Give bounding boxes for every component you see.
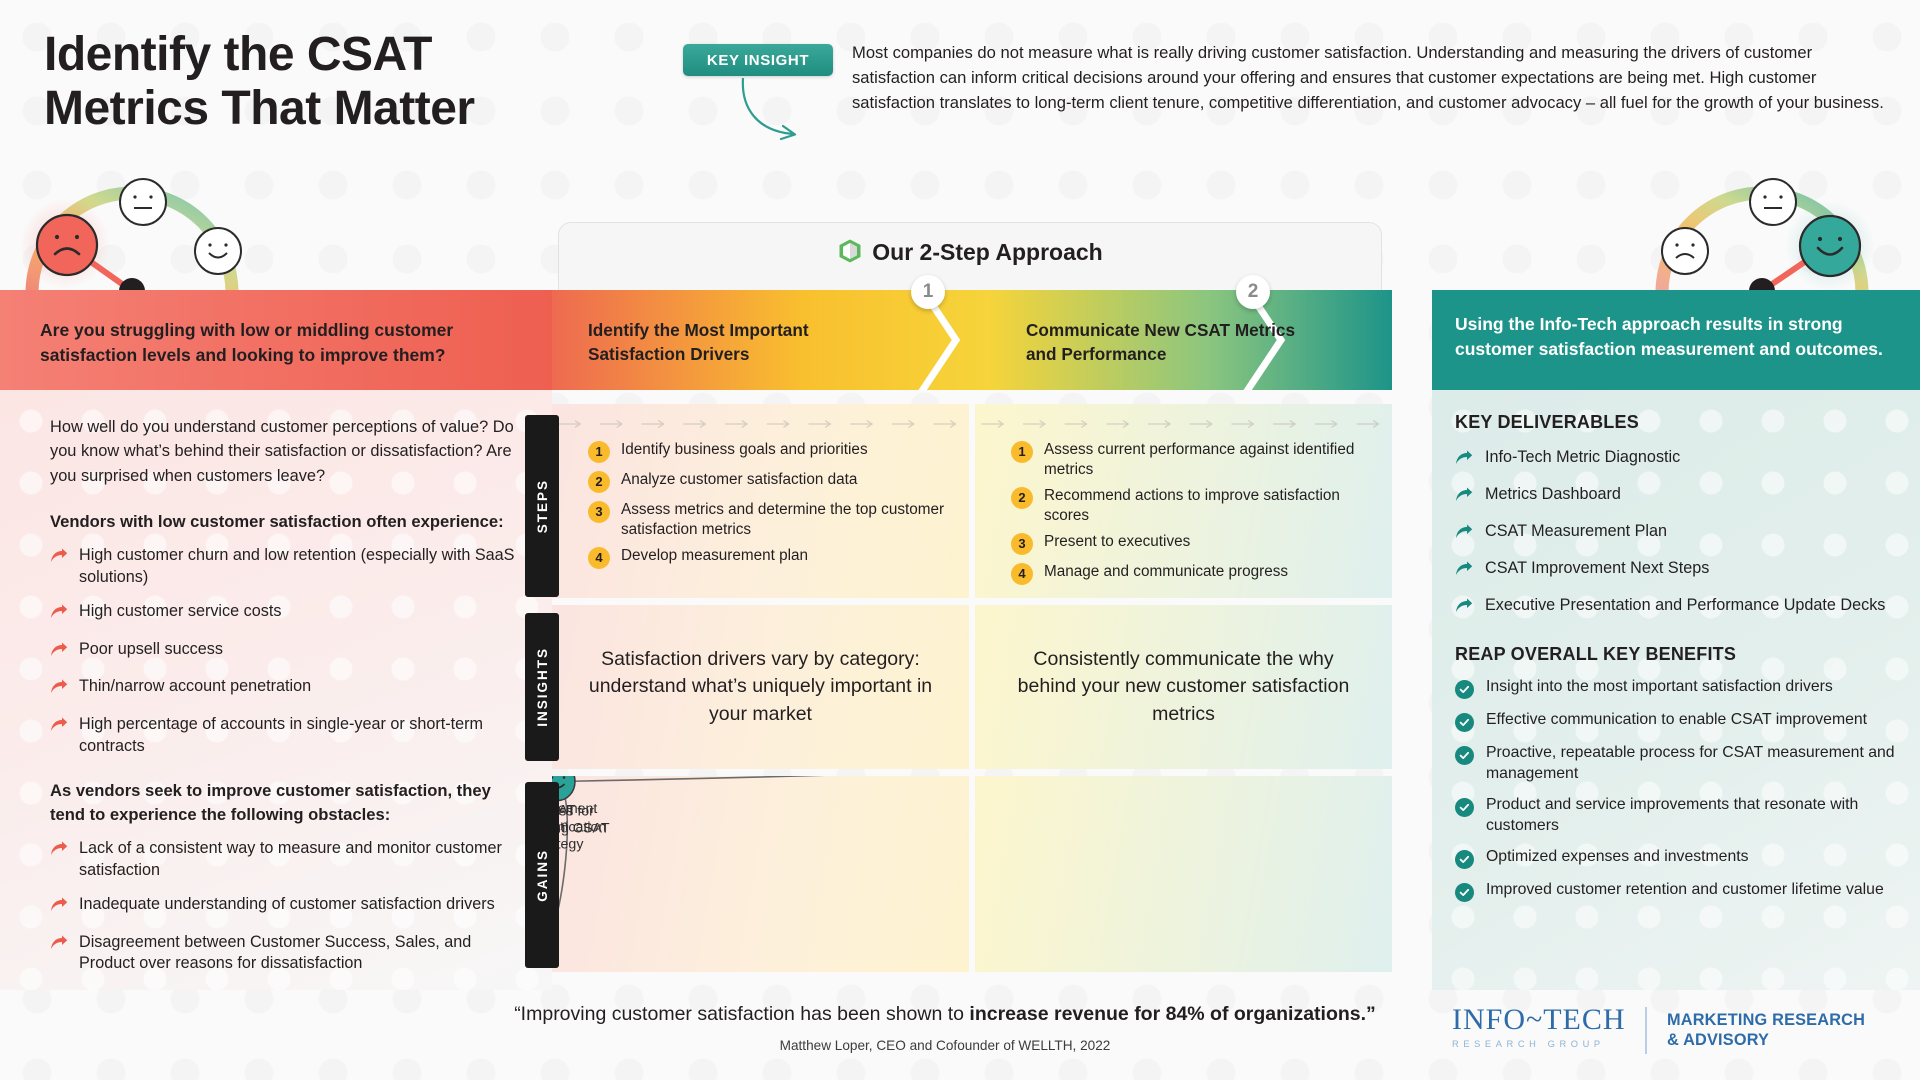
row-label-gains: GAINS [525,782,559,968]
list-item: Insight into the most important satisfac… [1455,677,1905,699]
list-item-label: CSAT Measurement Plan [1485,521,1667,542]
list-item: Disagreement between Customer Success, S… [50,932,520,975]
steps-list-b: 1Assess current performance against iden… [1011,440,1374,585]
list-item-label: Thin/narrow account penetration [79,676,311,698]
step-item: 2Analyze customer satisfaction data [588,470,951,493]
list-item: Proactive, repeatable process for CSAT m… [1455,743,1905,784]
curved-arrow-icon [735,76,855,146]
left-intro-text: How well do you understand customer perc… [50,415,520,488]
arrow-icon [50,679,68,702]
logo-divider [1645,1007,1647,1054]
steps-cell-a: 1Identify business goals and priorities2… [552,404,969,598]
list-item: Thin/narrow account penetration [50,676,520,702]
step-item-label: Present to executives [1044,532,1190,552]
list-item-label: Poor upsell success [79,639,223,661]
info-tech-logo: INFO~TECH RESEARCH GROUP [1452,1005,1626,1049]
step-number-badge: 2 [588,471,610,493]
step-item: 3Assess metrics and determine the top cu… [588,500,951,539]
row-label-gains-text: GAINS [535,849,550,902]
step-item: 1Identify business goals and priorities [588,440,951,463]
header: Identify the CSAT Metrics That Matter KE… [0,0,1920,180]
list-item-label: Lack of a consistent way to measure and … [79,838,520,881]
insights-cell-b: Consistently communicate the why behind … [975,605,1392,769]
list-item-label: Insight into the most important satisfac… [1486,677,1833,698]
list-item: Executive Presentation and Performance U… [1455,595,1905,620]
logo-tagline: MARKETING RESEARCH & ADVISORY [1667,1010,1865,1051]
list-item: Product and service improvements that re… [1455,795,1905,836]
list-item: Poor upsell success [50,639,520,665]
left-list-experiences: High customer churn and low retention (e… [50,545,520,757]
satisfaction-gauge-high [1640,158,1885,293]
list-item: Effective communication to enable CSAT i… [1455,710,1905,732]
footer-attribution: Matthew Loper, CEO and Cofounder of WELL… [440,1038,1450,1053]
step-item: 1Assess current performance against iden… [1011,440,1374,479]
steps-cell-b: 1Assess current performance against iden… [975,404,1392,598]
step-item-label: Identify business goals and priorities [621,440,868,460]
list-item-label: High percentage of accounts in single-ye… [79,714,520,757]
list-item-label: High customer service costs [79,601,281,623]
arrow-icon [1455,450,1473,472]
list-item-label: Effective communication to enable CSAT i… [1486,710,1867,731]
arrow-icon [1455,487,1473,509]
row-label-steps: STEPS [525,415,559,597]
step-item-label: Assess metrics and determine the top cus… [621,500,951,539]
progress-arrows-icon [975,418,1392,430]
cube-logo-icon [837,238,863,264]
list-item: Improved customer retention and customer… [1455,880,1905,902]
left-panel-content: How well do you understand customer perc… [50,415,520,987]
check-icon [1455,746,1474,765]
list-item: CSAT Improvement Next Steps [1455,558,1905,583]
step-number-badge: 2 [1011,487,1033,509]
step-item: 3Present to executives [1011,532,1374,555]
step-label-2: Communicate New CSAT Metrics and Perform… [1026,318,1316,367]
step-number-badge: 3 [588,501,610,523]
row-label-steps-text: STEPS [535,479,550,533]
left-heading-1: Vendors with low customer satisfaction o… [50,510,520,534]
list-item: Lack of a consistent way to measure and … [50,838,520,881]
benefits-list: Insight into the most important satisfac… [1455,677,1905,902]
check-icon [1455,883,1474,902]
list-item-label: Improved customer retention and customer… [1486,880,1884,901]
left-band-text: Are you struggling with low or middling … [40,318,530,369]
arrow-icon [50,841,68,864]
list-item: Inadequate understanding of customer sat… [50,894,520,920]
list-item-label: CSAT Improvement Next Steps [1485,558,1709,579]
check-icon [1455,713,1474,732]
list-item: CSAT Measurement Plan [1455,521,1905,546]
step-item: 4Develop measurement plan [588,546,951,569]
right-band-text: Using the Info-Tech approach results in … [1455,312,1905,362]
step-number-badge: 3 [1011,533,1033,555]
arrow-icon [50,897,68,920]
progress-arrows-icon [552,418,969,430]
right-panel: KEY DELIVERABLES Info-Tech Metric Diagno… [1432,390,1920,990]
left-panel: How well do you understand customer perc… [0,390,552,990]
list-item-label: Proactive, repeatable process for CSAT m… [1486,743,1905,784]
page-title: Identify the CSAT Metrics That Matter [44,28,475,136]
list-item-label: Executive Presentation and Performance U… [1485,595,1885,616]
step-item-label: Assess current performance against ident… [1044,440,1374,479]
quote-plain: “Improving customer satisfaction has bee… [514,1003,969,1025]
step-number-badge: 4 [1011,563,1033,585]
logo-name: INFO~TECH [1452,1005,1626,1035]
step-number-1: 1 [911,275,945,309]
gains-cell-b [975,776,1392,972]
list-item: High percentage of accounts in single-ye… [50,714,520,757]
check-icon [1455,850,1474,869]
row-label-insights-text: INSIGHTS [535,647,550,727]
key-insight-text: Most companies do not measure what is re… [852,40,1887,116]
step-number-badge: 4 [588,547,610,569]
list-item: High customer churn and low retention (e… [50,545,520,588]
approach-title-text: Our 2-Step Approach [872,239,1102,265]
check-icon [1455,798,1474,817]
list-item-label: Disagreement between Customer Success, S… [79,932,520,975]
left-heading-2: As vendors seek to improve customer sati… [50,779,520,826]
step-item-label: Recommend actions to improve satisfactio… [1044,486,1374,525]
arrow-icon [50,604,68,627]
steps-list-a: 1Identify business goals and priorities2… [588,440,951,569]
insights-cell-a: Satisfaction drivers vary by category: u… [552,605,969,769]
arrow-icon [1455,561,1473,583]
list-item-label: Product and service improvements that re… [1486,795,1905,836]
step-item-label: Manage and communicate progress [1044,562,1288,582]
list-item-label: Inadequate understanding of customer sat… [79,894,495,916]
deliverables-list: Info-Tech Metric DiagnosticMetrics Dashb… [1455,447,1905,620]
arrow-icon [50,642,68,665]
arrow-icon [50,717,68,740]
step-number-badge: 1 [1011,441,1033,463]
list-item: Info-Tech Metric Diagnostic [1455,447,1905,472]
logo-subtitle: RESEARCH GROUP [1452,1039,1626,1049]
list-item-label: Metrics Dashboard [1485,484,1621,505]
list-item-label: Info-Tech Metric Diagnostic [1485,447,1680,468]
arrow-icon [1455,598,1473,620]
list-item: Metrics Dashboard [1455,484,1905,509]
arrow-icon [50,548,68,571]
approach-title: Our 2-Step Approach [558,238,1382,266]
list-item-label: High customer churn and low retention (e… [79,545,520,588]
step-item-label: Analyze customer satisfaction data [621,470,857,490]
step-label-1: Identify the Most Important Satisfaction… [588,318,878,367]
step-number-2: 2 [1236,275,1270,309]
step-item-label: Develop measurement plan [621,546,808,566]
step-number-badge: 1 [588,441,610,463]
deliverables-heading: KEY DELIVERABLES [1455,412,1905,433]
row-label-insights: INSIGHTS [525,613,559,761]
list-item-label: Optimized expenses and investments [1486,847,1749,868]
right-panel-content: KEY DELIVERABLES Info-Tech Metric Diagno… [1455,412,1905,913]
satisfaction-gauge-low [10,158,255,293]
list-item: High customer service costs [50,601,520,627]
quote-bold: increase revenue for 84% of organization… [969,1003,1375,1025]
key-insight-badge: KEY INSIGHT [683,44,833,76]
footer-quote: “Improving customer satisfaction has bee… [440,1003,1450,1026]
left-list-obstacles: Lack of a consistent way to measure and … [50,838,520,975]
check-icon [1455,680,1474,699]
benefits-heading: REAP OVERALL KEY BENEFITS [1455,644,1905,665]
step-item: 4Manage and communicate progress [1011,562,1374,585]
arrow-icon [1455,524,1473,546]
list-item: Optimized expenses and investments [1455,847,1905,869]
arrow-icon [50,935,68,958]
step-item: 2Recommend actions to improve satisfacti… [1011,486,1374,525]
gains-cell-a [552,776,969,972]
